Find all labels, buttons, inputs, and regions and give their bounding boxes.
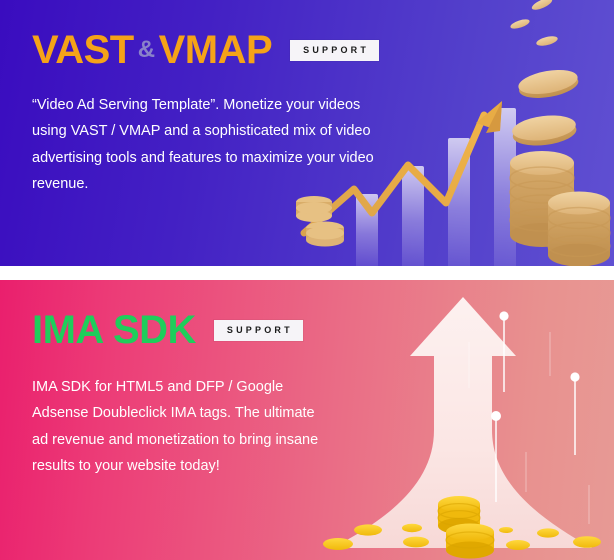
- panel-ima-title-row: IMA SDK SUPPORT: [32, 310, 614, 350]
- status-badge-support: SUPPORT: [290, 40, 379, 61]
- panel-ima-sdk: Google AdSense: [0, 280, 614, 560]
- panel-divider: [0, 266, 614, 280]
- chart-bar-1: [356, 194, 378, 266]
- promo-banner-stack: VAST&VMAP SUPPORT “Video Ad Serving Temp…: [0, 0, 614, 560]
- title-vmap: VMAP: [159, 28, 273, 72]
- scattered-coins-illustration: [320, 490, 614, 560]
- panel-vast-description: “Video Ad Serving Template”. Monetize yo…: [32, 92, 384, 198]
- page-title-ima: IMA SDK: [32, 310, 196, 350]
- panel-vast-vmap: VAST&VMAP SUPPORT “Video Ad Serving Temp…: [0, 0, 614, 266]
- panel-vast-content: VAST&VMAP SUPPORT “Video Ad Serving Temp…: [0, 0, 614, 198]
- panel-ima-description: IMA SDK for HTML5 and DFP / Google Adsen…: [32, 374, 332, 480]
- title-vast: VAST: [32, 28, 134, 72]
- status-badge-support-ima: SUPPORT: [214, 320, 303, 341]
- panel-ima-content: IMA SDK SUPPORT IMA SDK for HTML5 and DF…: [0, 280, 614, 480]
- panel-vast-title-row: VAST&VMAP SUPPORT: [32, 30, 614, 70]
- page-title: VAST&VMAP: [32, 30, 272, 70]
- title-ampersand: &: [134, 36, 159, 63]
